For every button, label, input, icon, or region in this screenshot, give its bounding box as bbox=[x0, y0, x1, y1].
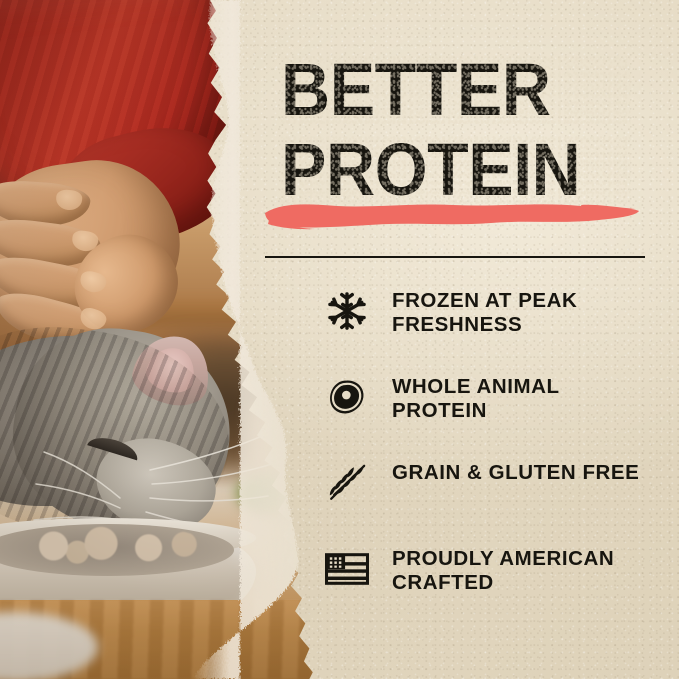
divider-rule bbox=[265, 256, 645, 258]
headline-line-2: PROTEIN bbox=[281, 136, 631, 204]
feature-list: FROZEN AT PEAK FRESHNESS WHOLE ANIMAL PR… bbox=[322, 286, 662, 630]
feature-label: PROUDLY AMERICAN CRAFTED bbox=[392, 544, 644, 595]
snowflake-icon bbox=[322, 286, 372, 332]
meat-cut-icon bbox=[322, 372, 372, 418]
feature-item-grain-free: GRAIN & GLUTEN FREE bbox=[322, 458, 662, 544]
wet-cat-food bbox=[10, 524, 208, 568]
headline-line-1: BETTER bbox=[281, 56, 631, 124]
feature-item-frozen: FROZEN AT PEAK FRESHNESS bbox=[322, 286, 662, 372]
feature-label: GRAIN & GLUTEN FREE bbox=[392, 458, 639, 485]
feature-item-american: PROUDLY AMERICAN CRAFTED bbox=[322, 544, 662, 630]
headline: BETTER PROTEIN bbox=[281, 56, 661, 204]
feature-label: WHOLE ANIMAL PROTEIN bbox=[392, 372, 644, 423]
product-feature-panel: BETTER PROTEIN bbox=[0, 0, 679, 679]
wheat-stalk-icon bbox=[322, 458, 372, 504]
feature-label: FROZEN AT PEAK FRESHNESS bbox=[392, 286, 644, 337]
feature-item-protein: WHOLE ANIMAL PROTEIN bbox=[322, 372, 662, 458]
usa-flag-icon bbox=[322, 544, 372, 590]
